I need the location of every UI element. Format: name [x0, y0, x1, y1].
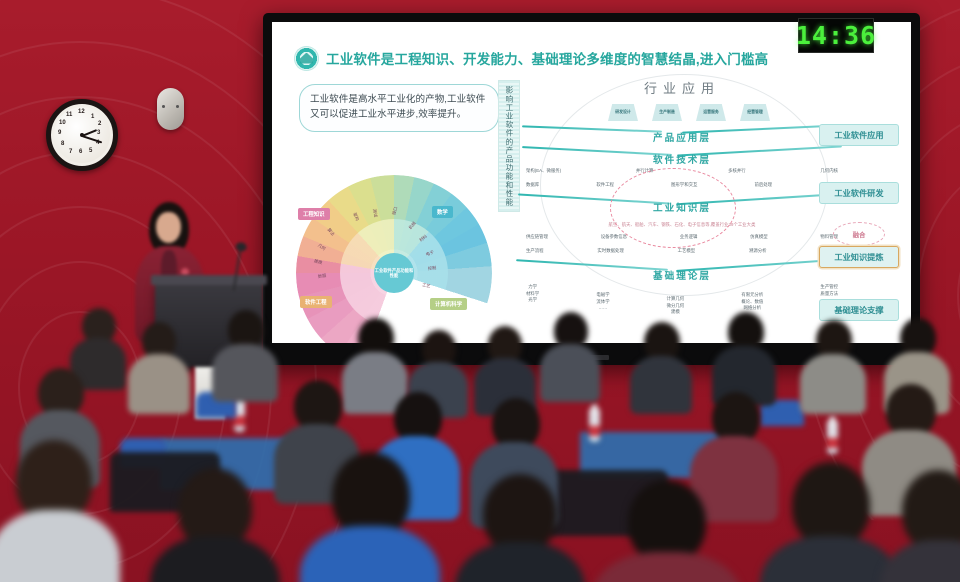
layer-item: 电磁学	[596, 292, 609, 299]
domain-chip-label: 运营服务	[703, 110, 719, 114]
domain-chip-label: 研发设计	[615, 110, 631, 114]
layer-item: 生产管控	[820, 284, 838, 291]
theory-column-1: 电磁学 流体学 ……	[596, 284, 609, 312]
clock-numeral: 8	[61, 141, 64, 147]
wall-clock: 12 3 6 9 1 2 4 5 7 8 10 11	[46, 99, 118, 171]
slide-canvas: 工业软件是工程知识、开发能力、基础理论多维度的智慧结晶,进入门槛高 工业软件是高…	[272, 22, 911, 343]
audience-member	[800, 320, 866, 408]
theory-column-0: 力学 材料学 光学	[526, 284, 539, 304]
audience-member	[540, 312, 600, 394]
layer-item: 建模	[667, 309, 685, 316]
slide-title: 工业软件是工程知识、开发能力、基础理论多维度的智慧结晶,进入门槛高	[326, 48, 768, 68]
clock-numeral: 6	[79, 149, 82, 155]
audience-member-foreground	[592, 480, 742, 582]
layer-item: 有限元分析	[741, 292, 763, 299]
audience-torso	[128, 354, 190, 414]
layer-name-1: 软件技术层	[522, 152, 842, 166]
audience-torso	[150, 536, 280, 582]
sunburst-diagram: 工业软件产品功能和性能 工程知识 数学 计算机科学 软件工程 机械 材料 电子 …	[294, 190, 494, 320]
layer-item: 多核并行	[728, 168, 746, 175]
audience-member-foreground	[150, 468, 280, 582]
audience-member	[712, 312, 776, 400]
clock-numeral: 9	[58, 130, 61, 136]
layer-item: 软件工程	[596, 182, 614, 189]
audience-member	[630, 322, 692, 408]
screenshot-root: 12 3 6 9 1 2 4 5 7 8 10 11 工业软件是工程知识、开发能…	[0, 0, 960, 582]
layer-item: 质量方法	[820, 291, 838, 298]
audience-torso	[800, 354, 866, 414]
audience-torso	[592, 552, 742, 582]
layer-item: 仿真模型	[750, 234, 768, 241]
domain-chip-2: 运营服务	[696, 104, 726, 121]
fusion-label: 融合	[853, 230, 866, 239]
water-bottle	[589, 408, 600, 442]
audience-member-foreground	[300, 452, 440, 582]
sunburst-quadrant-label-0: 工程知识	[298, 208, 330, 220]
sunburst-spoke-label: 控制	[428, 265, 437, 272]
layer-item: 网络分析	[741, 305, 763, 312]
right-box-label: 工业知识提炼	[834, 251, 883, 263]
clock-numeral: 12	[78, 109, 85, 115]
layer-item: 溯源分析	[749, 248, 767, 255]
right-box-rnd: 工业软件研发	[819, 182, 899, 204]
company-round-logo-icon	[294, 46, 319, 71]
clock-numeral: 1	[91, 114, 94, 120]
audience-member-foreground	[880, 470, 960, 582]
wall-sensor-device	[157, 88, 184, 130]
domain-chip-label: 生产制造	[659, 110, 675, 114]
layer-name-3: 基础理论层	[522, 268, 842, 282]
display-screen: 工业软件是工程知识、开发能力、基础理论多维度的智慧结晶,进入门槛高 工业软件是高…	[272, 22, 911, 343]
audience-torso	[455, 542, 585, 582]
audience-member-foreground	[0, 440, 120, 582]
sunburst-spoke-label: 测试	[371, 208, 378, 217]
fusion-dashed-ellipse: 融合	[833, 222, 885, 246]
audience-member-foreground	[760, 462, 900, 582]
architecture-top-title: 行业应用	[522, 78, 842, 97]
right-box-label: 工业软件应用	[834, 129, 883, 141]
layer-item: 设备参数信息	[601, 234, 627, 241]
audience-member	[128, 322, 190, 408]
layer-item: 前后处理	[755, 182, 773, 189]
layer-item: ……	[596, 305, 609, 312]
digital-clock-time: 14:36	[796, 21, 876, 50]
clock-numeral: 2	[98, 121, 101, 127]
domain-chip-3: 经营管理	[740, 104, 770, 121]
clock-numeral: 3	[97, 130, 100, 136]
layer-item: 实时数据处理	[597, 248, 623, 255]
theory-column-3: 有限元分析 概论、数值 网络分析	[741, 284, 763, 312]
domain-chip-label: 经营管理	[747, 110, 763, 114]
digital-led-clock: 14:36	[798, 18, 874, 53]
vertical-strip-label: 影响工业软件的产品功能和性能	[504, 86, 514, 206]
sunburst-center-hub: 工业软件产品功能和性能	[374, 253, 414, 293]
layer-item: 生产流程	[526, 248, 544, 255]
layer-item: 光学	[526, 297, 539, 304]
presenter-face	[156, 212, 181, 243]
clock-numeral: 5	[89, 148, 92, 154]
layer-item: 架构(EA、微服务)	[526, 168, 561, 175]
layer-divider-4	[516, 264, 848, 267]
clock-numeral: 7	[69, 149, 72, 155]
sunburst-quadrant-label-2: 计算机科学	[430, 298, 467, 310]
vertical-side-strip: 影响工业软件的产品功能和性能	[498, 80, 520, 212]
theory-column-2: 计算几何 微分几何 建模	[667, 284, 685, 316]
slide-callout-bubble: 工业软件是高水平工业化的产物,工业软件又可以促进工业水平进步,效率提升。	[299, 84, 499, 132]
clock-numeral: 11	[66, 112, 72, 118]
sunburst-spoke-label: 数据	[318, 273, 327, 280]
layer-item: 几何内核	[820, 168, 838, 175]
audience-torso	[540, 344, 600, 402]
audience-torso	[760, 536, 900, 582]
sunburst-quadrant-label-1: 数学	[432, 206, 453, 218]
layer-item: 力学	[526, 284, 539, 291]
layer-item: 流体学	[596, 299, 609, 306]
right-box-application: 工业软件应用	[819, 124, 899, 146]
audience-torso	[212, 344, 278, 402]
right-box-knowledge-extraction: 工业知识提炼	[819, 246, 899, 268]
audience-torso	[0, 510, 120, 582]
right-box-label: 工业软件研发	[834, 187, 883, 199]
layer-name-0: 产品应用层	[522, 130, 842, 144]
architecture-stack: 行业应用 研发设计 生产制造 运营服务 经营管理 产品应用层	[522, 72, 842, 322]
dashed-focus-ring	[610, 168, 736, 248]
audience-torso	[880, 540, 960, 582]
layer-item: 数据库	[526, 182, 539, 189]
sunburst-center-label: 工业软件产品功能和性能	[374, 268, 414, 279]
knowledge-layer-row-1: 生产流程 实时数据处理 工艺模型 溯源分析 理论模型	[522, 248, 842, 255]
clock-numeral: 10	[59, 120, 66, 126]
right-box-label: 基础理论支撑	[834, 304, 883, 316]
audience-torso	[300, 526, 440, 582]
domain-chip-1: 生产制造	[652, 104, 682, 121]
podium-top-surface	[151, 275, 267, 285]
layer-item: 供应链管理	[526, 234, 548, 241]
layer-item: 工艺模型	[678, 248, 696, 255]
water-bottle	[827, 420, 838, 454]
audience-member-foreground	[455, 474, 585, 582]
sunburst-quadrant-label-3: 软件工程	[300, 296, 332, 308]
audience-torso	[630, 356, 692, 414]
layer-item: 计算几何	[667, 296, 685, 303]
audience-member	[212, 310, 278, 394]
clock-center-pin	[80, 133, 84, 137]
domain-chip-0: 研发设计	[608, 104, 638, 121]
